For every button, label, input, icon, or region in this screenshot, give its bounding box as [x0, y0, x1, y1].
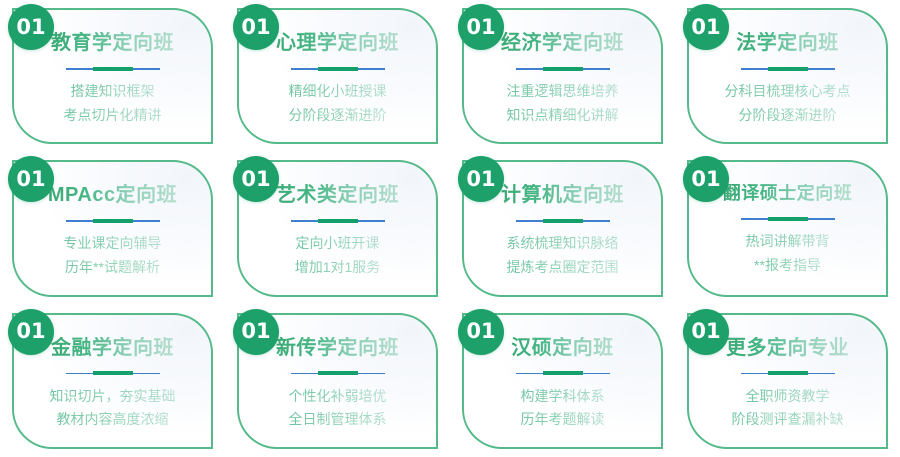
- course-card[interactable]: 01 金融学定向班 知识切片，夯实基础 教材内容高度浓缩: [12, 313, 213, 449]
- course-card-grid: 01 教育学定向班 搭建知识框架 考点切片化精讲 01: [0, 0, 900, 457]
- title-divider: [741, 216, 835, 221]
- card-feature-list: 系统梳理知识脉络 提炼考点圈定范围: [507, 235, 619, 276]
- card-title: 心理学定向班: [272, 32, 403, 54]
- card-number-badge: 01: [8, 156, 54, 202]
- card-title: 计算机定向班: [497, 184, 628, 206]
- title-divider: [66, 371, 160, 376]
- grid-cell: 01 金融学定向班 知识切片，夯实基础 教材内容高度浓缩: [0, 305, 225, 457]
- card-number-badge: 01: [233, 156, 279, 202]
- card-number-badge: 01: [8, 4, 54, 50]
- card-feature-list: 全职师资教学 阶段测评查漏补缺: [732, 388, 844, 429]
- card-feature-line: 全日制管理体系: [289, 411, 387, 429]
- title-divider: [291, 66, 385, 71]
- course-class-grid-page: 01 教育学定向班 搭建知识框架 考点切片化精讲 01: [0, 0, 900, 457]
- divider-green-segment: [318, 371, 358, 375]
- card-feature-line: 精细化小班授课: [289, 83, 387, 101]
- title-divider: [516, 218, 610, 223]
- card-feature-line: 定向小班开课: [295, 235, 379, 253]
- card-feature-line: 知识切片，夯实基础: [50, 388, 176, 406]
- grid-cell: 01 计算机定向班 系统梳理知识脉络 提炼考点圈定范围: [450, 152, 675, 304]
- card-feature-line: 分阶段逐渐进阶: [739, 107, 837, 125]
- card-title: 金融学定向班: [47, 337, 178, 359]
- card-feature-line: 历年**试题解析: [65, 259, 160, 277]
- card-feature-line: 分阶段逐渐进阶: [289, 107, 387, 125]
- grid-cell: 01 艺术类定向班 定向小班开课 增加1对1服务: [225, 152, 450, 304]
- card-feature-line: 知识点精细化讲解: [507, 107, 619, 125]
- card-feature-list: 专业课定向辅导 历年**试题解析: [64, 235, 162, 276]
- card-feature-list: 搭建知识框架 考点切片化精讲: [64, 83, 162, 124]
- course-card[interactable]: 01 更多定向专业 全职师资教学 阶段测评查漏补缺: [687, 313, 888, 449]
- divider-green-segment: [543, 219, 583, 223]
- divider-green-segment: [318, 67, 358, 71]
- grid-cell: 01 汉硕定向班 构建学科体系 历年考题解读: [450, 305, 675, 457]
- course-card[interactable]: 01 计算机定向班 系统梳理知识脉络 提炼考点圈定范围: [462, 160, 663, 296]
- card-title: 艺术类定向班: [272, 184, 403, 206]
- course-card[interactable]: 01 新传学定向班 个性化补弱培优 全日制管理体系: [237, 313, 438, 449]
- grid-cell: 01 更多定向专业 全职师资教学 阶段测评查漏补缺: [675, 305, 900, 457]
- card-number-badge: 01: [8, 309, 54, 355]
- card-feature-line: 教材内容高度浓缩: [57, 411, 169, 429]
- divider-green-segment: [318, 219, 358, 223]
- card-feature-line: 专业课定向辅导: [64, 235, 162, 253]
- card-title: 经济学定向班: [497, 32, 628, 54]
- card-number-badge: 01: [458, 309, 504, 355]
- card-title: 更多定向专业: [722, 337, 853, 359]
- title-divider: [741, 66, 835, 71]
- card-feature-line: 历年考题解读: [521, 411, 605, 429]
- title-divider: [516, 371, 610, 376]
- card-feature-line: 热词讲解带背: [746, 233, 830, 251]
- course-card[interactable]: 01 法学定向班 分科目梳理核心考点 分阶段逐渐进阶: [687, 8, 888, 144]
- card-number-badge: 01: [683, 4, 729, 50]
- card-feature-line: 提炼考点圈定范围: [507, 259, 619, 277]
- grid-cell: 01 心理学定向班 精细化小班授课 分阶段逐渐进阶: [225, 0, 450, 152]
- card-feature-list: 热词讲解带背 **报考指导: [746, 233, 830, 274]
- card-number-badge: 01: [233, 4, 279, 50]
- card-feature-line: 考点切片化精讲: [64, 107, 162, 125]
- card-feature-list: 个性化补弱培优 全日制管理体系: [289, 388, 387, 429]
- title-divider: [291, 371, 385, 376]
- grid-cell: 01 法学定向班 分科目梳理核心考点 分阶段逐渐进阶: [675, 0, 900, 152]
- card-number-badge: 01: [233, 309, 279, 355]
- divider-green-segment: [93, 67, 133, 71]
- divider-green-segment: [543, 371, 583, 375]
- course-card[interactable]: 01 艺术类定向班 定向小班开课 增加1对1服务: [237, 160, 438, 296]
- course-card[interactable]: 01 MPAcc定向班 专业课定向辅导 历年**试题解析: [12, 160, 213, 296]
- card-title: 翻译硕士定向班: [719, 184, 857, 204]
- card-number-badge: 01: [458, 156, 504, 202]
- divider-green-segment: [768, 217, 808, 221]
- card-feature-line: 分科目梳理核心考点: [725, 83, 851, 101]
- title-divider: [741, 371, 835, 376]
- card-title: 新传学定向班: [272, 337, 403, 359]
- title-divider: [516, 66, 610, 71]
- card-feature-list: 定向小班开课 增加1对1服务: [295, 235, 381, 276]
- grid-cell: 01 经济学定向班 注重逻辑思维培养 知识点精细化讲解: [450, 0, 675, 152]
- card-feature-list: 构建学科体系 历年考题解读: [521, 388, 605, 429]
- divider-green-segment: [543, 67, 583, 71]
- card-number-badge: 01: [458, 4, 504, 50]
- title-divider: [66, 218, 160, 223]
- card-title: 汉硕定向班: [507, 337, 618, 359]
- card-feature-line: 构建学科体系: [521, 388, 605, 406]
- card-feature-line: 增加1对1服务: [295, 259, 381, 277]
- card-title: 法学定向班: [732, 32, 843, 54]
- card-title: 教育学定向班: [47, 32, 178, 54]
- divider-green-segment: [768, 67, 808, 71]
- card-feature-list: 精细化小班授课 分阶段逐渐进阶: [289, 83, 387, 124]
- card-feature-line: **报考指导: [754, 257, 821, 275]
- course-card[interactable]: 01 教育学定向班 搭建知识框架 考点切片化精讲: [12, 8, 213, 144]
- card-feature-list: 注重逻辑思维培养 知识点精细化讲解: [507, 83, 619, 124]
- divider-green-segment: [93, 371, 133, 375]
- card-feature-line: 个性化补弱培优: [289, 388, 387, 406]
- course-card[interactable]: 01 翻译硕士定向班 热词讲解带背 **报考指导: [687, 160, 888, 296]
- card-number-badge: 01: [683, 309, 729, 355]
- card-feature-list: 分科目梳理核心考点 分阶段逐渐进阶: [725, 83, 851, 124]
- grid-cell: 01 MPAcc定向班 专业课定向辅导 历年**试题解析: [0, 152, 225, 304]
- course-card[interactable]: 01 经济学定向班 注重逻辑思维培养 知识点精细化讲解: [462, 8, 663, 144]
- card-feature-line: 系统梳理知识脉络: [507, 235, 619, 253]
- divider-green-segment: [768, 371, 808, 375]
- card-feature-list: 知识切片，夯实基础 教材内容高度浓缩: [50, 388, 176, 429]
- course-card[interactable]: 01 心理学定向班 精细化小班授课 分阶段逐渐进阶: [237, 8, 438, 144]
- card-feature-line: 全职师资教学: [746, 388, 830, 406]
- grid-cell: 01 新传学定向班 个性化补弱培优 全日制管理体系: [225, 305, 450, 457]
- title-divider: [291, 218, 385, 223]
- card-feature-line: 阶段测评查漏补缺: [732, 411, 844, 429]
- course-card[interactable]: 01 汉硕定向班 构建学科体系 历年考题解读: [462, 313, 663, 449]
- title-divider: [66, 66, 160, 71]
- card-feature-line: 注重逻辑思维培养: [507, 83, 619, 101]
- grid-cell: 01 教育学定向班 搭建知识框架 考点切片化精讲: [0, 0, 225, 152]
- grid-cell: 01 翻译硕士定向班 热词讲解带背 **报考指导: [675, 152, 900, 304]
- card-number-badge: 01: [683, 156, 729, 202]
- card-title: MPAcc定向班: [44, 184, 181, 206]
- card-feature-line: 搭建知识框架: [71, 83, 155, 101]
- divider-green-segment: [93, 219, 133, 223]
